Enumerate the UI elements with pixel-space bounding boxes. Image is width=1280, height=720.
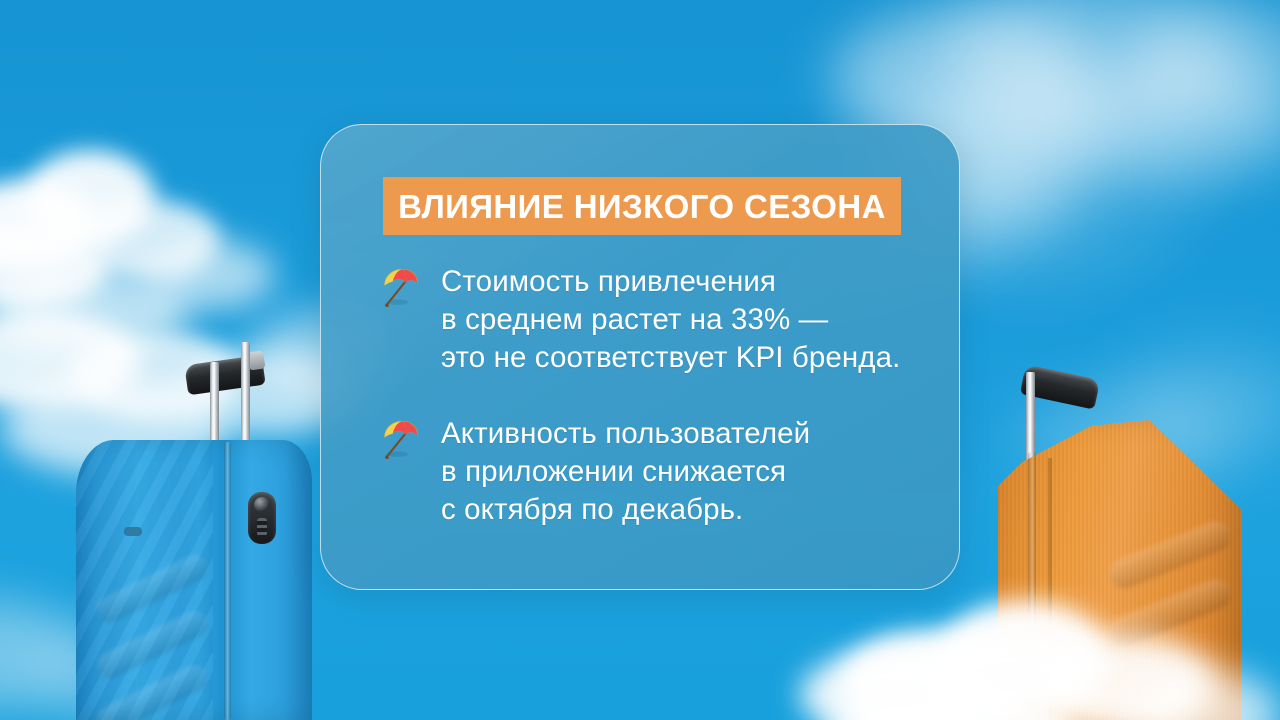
bullet-line: в среднем растет на 33% — xyxy=(441,301,900,339)
bullet-line: в приложении снижается xyxy=(441,453,810,491)
blue-suitcase xyxy=(62,370,312,720)
suitcase-zipper-seam xyxy=(1028,452,1036,720)
list-item-text: Активность пользователей в приложении сн… xyxy=(441,415,810,529)
suitcase-shell xyxy=(76,440,312,720)
beach-umbrella-icon xyxy=(379,417,423,461)
list-item-text: Стоимость привлечения в среднем растет н… xyxy=(441,263,900,377)
bullet-line: Стоимость привлечения xyxy=(441,263,900,301)
orange-suitcase xyxy=(990,370,1280,720)
info-card: ВЛИЯНИЕ НИЗКОГО СЕЗОНА xyxy=(320,124,960,590)
suitcase-combination-lock xyxy=(248,492,276,544)
slide-root: ВЛИЯНИЕ НИЗКОГО СЕЗОНА xyxy=(0,0,1280,720)
suitcase-zipper-seam-2 xyxy=(1048,458,1052,720)
beach-umbrella-icon xyxy=(379,265,423,309)
bullet-list: Стоимость привлечения в среднем растет н… xyxy=(379,263,923,529)
bullet-line: с октября по декабрь. xyxy=(441,491,810,529)
list-item: Активность пользователей в приложении сн… xyxy=(379,415,923,529)
bullet-line: Активность пользователей xyxy=(441,415,810,453)
list-item: Стоимость привлечения в среднем растет н… xyxy=(379,263,923,377)
suitcase-side-tab xyxy=(124,527,142,536)
page-title: ВЛИЯНИЕ НИЗКОГО СЕЗОНА xyxy=(398,190,886,223)
suitcase-zipper-seam xyxy=(224,442,231,720)
bullet-line: это не соответствует KPI бренда. xyxy=(441,339,900,377)
title-banner: ВЛИЯНИЕ НИЗКОГО СЕЗОНА xyxy=(383,177,901,235)
